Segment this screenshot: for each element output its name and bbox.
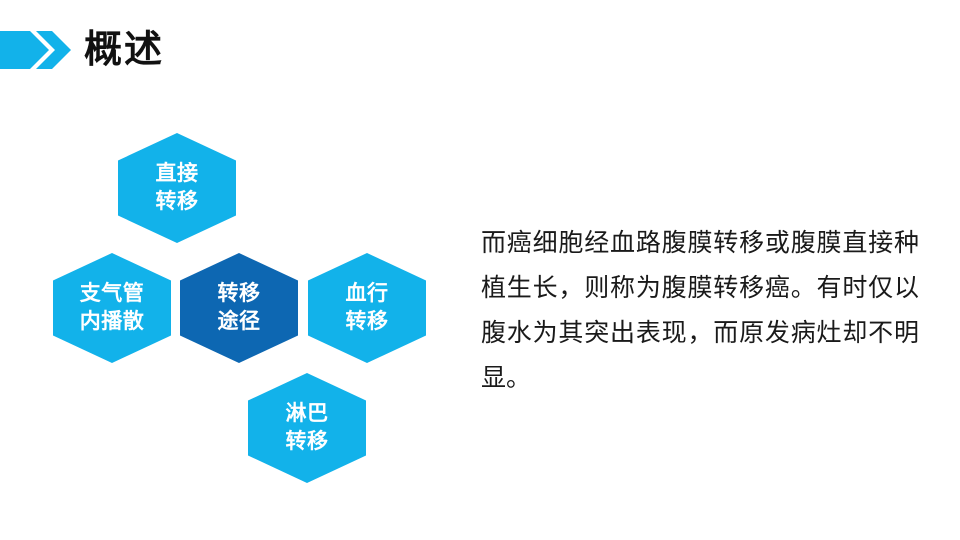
slide-header: 概述 [0,0,960,100]
hexagon-cluster-diagram: 直接 转移 支气管 内播散 转移 途径 血行 转移 淋巴 转移 [45,125,435,495]
hex-node-hematogenous-spread[interactable]: 血行 转移 [308,253,426,363]
body-paragraph: 而癌细胞经血路腹膜转移或腹膜直接种植生长，则称为腹膜转移癌。有时仅以腹水为其突出… [481,221,919,401]
page-title: 概述 [84,26,164,74]
hex-node-lymphatic-spread[interactable]: 淋巴 转移 [248,373,366,483]
hex-node-label: 血行 转移 [346,280,389,336]
hex-node-bronchial-spread[interactable]: 支气管 内播散 [53,253,171,363]
hex-node-direct-spread[interactable]: 直接 转移 [118,133,236,243]
hex-node-label: 支气管 内播散 [80,280,145,336]
slide-canvas: 概述 直接 转移 支气管 内播散 转移 途径 血行 转移 淋巴 转移 而癌细胞经… [0,0,960,540]
arrow-right-block-icon [0,31,76,69]
hex-node-label: 转移 途径 [218,280,261,336]
hex-node-label: 直接 转移 [156,160,199,216]
hex-node-metastasis-route[interactable]: 转移 途径 [180,253,298,363]
hex-node-label: 淋巴 转移 [286,400,329,456]
